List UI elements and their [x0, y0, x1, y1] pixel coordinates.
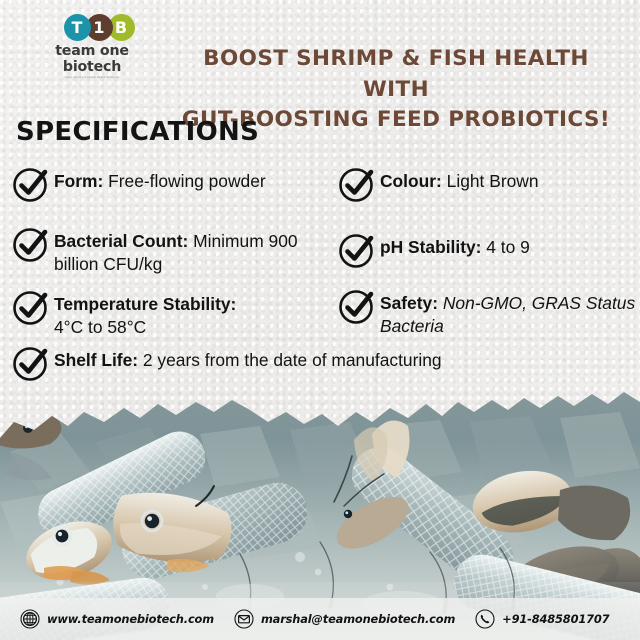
spec-value: 4 to 9 [486, 237, 530, 257]
specifications-column-right: Colour: Light Brown pH Stability: 4 to 9 [336, 163, 636, 350]
check-circle-icon [10, 286, 52, 328]
spec-text: Temperature Stability: 4°C to 58°C [54, 286, 236, 339]
spec-text: Shelf Life: 2 years from the date of man… [54, 342, 442, 372]
spec-key: pH Stability: [380, 237, 481, 257]
footer-phone-text: +91-8485801707 [502, 612, 609, 626]
spec-text: Form: Free-flowing powder [54, 163, 266, 193]
check-circle-icon [10, 342, 52, 384]
spec-key: Temperature Stability: [54, 294, 236, 314]
headline-line-1: BOOST SHRIMP & FISH HEALTH WITH [170, 44, 622, 105]
check-circle-icon [10, 163, 52, 205]
spec-key: Bacterial Count: [54, 231, 188, 251]
footer-email[interactable]: marshal@teamonebiotech.com [234, 609, 455, 629]
specifications-title: SPECIFICATIONS [16, 117, 259, 147]
globe-icon [20, 609, 40, 629]
spec-key: Form: [54, 171, 103, 191]
footer-email-text: marshal@teamonebiotech.com [261, 612, 455, 626]
spec-item-temperature-stability: Temperature Stability: 4°C to 58°C [10, 286, 340, 339]
spec-item-colour: Colour: Light Brown [336, 163, 636, 205]
check-circle-icon [336, 285, 378, 327]
footer-phone[interactable]: +91-8485801707 [475, 609, 609, 629]
logo-circles: T 1 B [46, 14, 152, 41]
check-circle-icon [336, 163, 378, 205]
check-circle-icon [10, 223, 52, 265]
brand-logo: T 1 B team one biotech Aqua, Poultry & A… [32, 14, 152, 79]
spec-key: Colour: [380, 171, 442, 191]
spec-text: pH Stability: 4 to 9 [380, 229, 530, 259]
spec-value: 4°C to 58°C [54, 317, 146, 337]
spec-item-bacterial-count: Bacterial Count: Minimum 900 billion CFU… [10, 223, 340, 276]
spec-key: Shelf Life: [54, 350, 138, 370]
spec-text: Bacterial Count: Minimum 900 billion CFU… [54, 223, 340, 276]
logo-circle-t: T [64, 14, 91, 41]
envelope-icon [234, 609, 254, 629]
footer-website[interactable]: www.teamonebiotech.com [20, 609, 214, 629]
spec-item-form: Form: Free-flowing powder [10, 163, 340, 205]
logo-wordmark: team one biotech [32, 43, 152, 75]
spec-value: 2 years from the date of manufacturing [143, 350, 442, 370]
specifications-column-left: Form: Free-flowing powder Bacterial Coun… [10, 163, 340, 351]
footer-website-text: www.teamonebiotech.com [47, 612, 214, 626]
spec-value: Free-flowing powder [108, 171, 266, 191]
contact-footer: www.teamonebiotech.com marshal@teamonebi… [0, 598, 640, 640]
spec-key: Safety: [380, 293, 438, 313]
check-circle-icon [336, 229, 378, 271]
phone-icon [475, 609, 495, 629]
spec-text: Safety: Non-GMO, GRAS Status Bacteria [380, 285, 636, 338]
spec-item-shelf-life: Shelf Life: 2 years from the date of man… [10, 342, 630, 384]
promotional-poster: T 1 B team one biotech Aqua, Poultry & A… [0, 0, 640, 640]
spec-item-ph-stability: pH Stability: 4 to 9 [336, 229, 636, 271]
spec-value: Light Brown [447, 171, 539, 191]
spec-text: Colour: Light Brown [380, 163, 539, 193]
spec-item-safety: Safety: Non-GMO, GRAS Status Bacteria [336, 285, 636, 338]
logo-tagline: Aqua, Poultry & Animal Health Solutions [32, 76, 152, 79]
